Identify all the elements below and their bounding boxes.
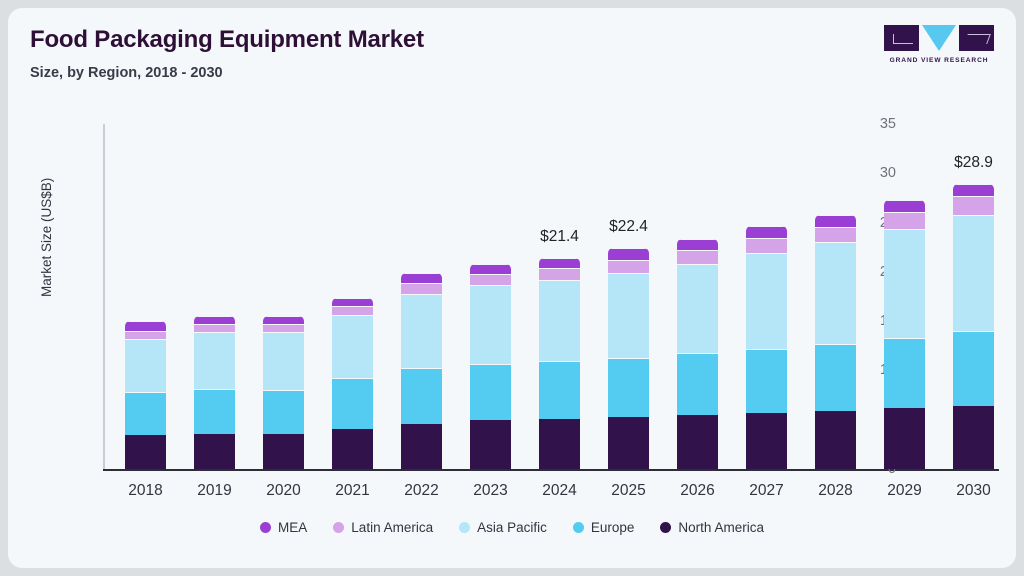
bar-group[interactable]: 2026 (677, 124, 718, 469)
bar-segment[interactable] (263, 324, 304, 332)
bar-segment[interactable] (194, 324, 235, 332)
bar-segment[interactable] (884, 408, 925, 469)
bar-stack[interactable] (677, 239, 718, 469)
bar-segment[interactable] (815, 215, 856, 227)
bar-segment[interactable] (884, 212, 925, 230)
legend-color-swatch-icon (573, 522, 584, 533)
bar-segment[interactable] (125, 331, 166, 339)
bar-stack[interactable] (884, 200, 925, 469)
bar-segment[interactable] (815, 411, 856, 469)
bar-segment[interactable] (194, 434, 235, 469)
bar-segment[interactable] (401, 294, 442, 369)
bar-segment[interactable] (539, 268, 580, 280)
y-axis-line (103, 124, 105, 469)
bar-segment[interactable] (953, 215, 994, 331)
x-tick-label: 2020 (266, 482, 300, 500)
bar-segment[interactable] (332, 306, 373, 315)
legend-item[interactable]: North America (660, 520, 764, 535)
bar-group[interactable]: 2021 (332, 124, 373, 469)
bar-segment[interactable] (539, 280, 580, 361)
bar-segment[interactable] (815, 242, 856, 344)
chart-header: Food Packaging Equipment Market Size, by… (30, 26, 424, 81)
bar-segment[interactable] (332, 315, 373, 378)
x-tick-label: 2030 (956, 482, 990, 500)
bar-segment[interactable] (677, 353, 718, 415)
bar-stack[interactable] (608, 248, 649, 469)
bar-segment[interactable] (677, 250, 718, 264)
bar-group[interactable]: 2020 (263, 124, 304, 469)
bar-segment[interactable] (953, 196, 994, 215)
bar-segment[interactable] (470, 364, 511, 420)
bar-stack[interactable] (815, 215, 856, 469)
bar-stack[interactable] (125, 321, 166, 469)
bar-group[interactable]: $22.42025 (608, 124, 649, 469)
bar-segment[interactable] (815, 227, 856, 243)
x-tick-label: 2021 (335, 482, 369, 500)
legend-label: Europe (591, 520, 635, 535)
legend-item[interactable]: Europe (573, 520, 635, 535)
bar-segment[interactable] (677, 415, 718, 469)
chart-legend: MEALatin AmericaAsia PacificEuropeNorth … (8, 520, 1016, 535)
bar-stack[interactable] (332, 298, 373, 469)
logo-wordmark: GRAND VIEW RESEARCH (884, 57, 994, 64)
logo-triangle-icon (922, 25, 956, 51)
chart-card: Food Packaging Equipment Market Size, by… (8, 8, 1016, 568)
bar-segment[interactable] (470, 274, 511, 285)
legend-label: Latin America (351, 520, 433, 535)
y-axis-title: Market Size (US$B) (39, 178, 54, 297)
bar-group[interactable]: 2023 (470, 124, 511, 469)
bar-segment[interactable] (332, 429, 373, 469)
bar-segment[interactable] (677, 264, 718, 353)
bar-stack[interactable] (263, 316, 304, 469)
bar-group[interactable]: $28.92030 (953, 124, 994, 469)
grand-view-research-logo: GRAND VIEW RESEARCH (884, 24, 994, 64)
bar-segment[interactable] (332, 378, 373, 428)
bar-segment[interactable] (470, 285, 511, 364)
bar-segment[interactable] (263, 332, 304, 390)
bar-stack[interactable] (401, 273, 442, 469)
x-tick-label: 2028 (818, 482, 852, 500)
bar-segment[interactable] (470, 420, 511, 469)
x-tick-label: 2019 (197, 482, 231, 500)
bar-group[interactable]: 2018 (125, 124, 166, 469)
logo-marks (884, 24, 994, 52)
bar-segment[interactable] (125, 392, 166, 434)
legend-item[interactable]: Latin America (333, 520, 433, 535)
bar-segment[interactable] (539, 361, 580, 419)
bar-segment[interactable] (608, 260, 649, 273)
bar-segment[interactable] (746, 253, 787, 349)
bar-group[interactable]: 2027 (746, 124, 787, 469)
bar-segment[interactable] (884, 229, 925, 337)
bar-segment[interactable] (125, 435, 166, 470)
bar-value-label: $22.4 (609, 218, 648, 236)
bar-stack[interactable] (539, 258, 580, 469)
x-tick-label: 2026 (680, 482, 714, 500)
bar-value-label: $28.9 (954, 154, 993, 172)
bar-segment[interactable] (263, 390, 304, 433)
legend-color-swatch-icon (260, 522, 271, 533)
bar-value-label: $21.4 (540, 228, 579, 246)
bar-segment[interactable] (470, 264, 511, 274)
chart-subtitle: Size, by Region, 2018 - 2030 (30, 65, 424, 81)
bar-segment[interactable] (125, 339, 166, 392)
x-tick-label: 2029 (887, 482, 921, 500)
bar-segment[interactable] (884, 200, 925, 212)
legend-color-swatch-icon (333, 522, 344, 533)
bar-segment[interactable] (125, 321, 166, 331)
x-tick-label: 2025 (611, 482, 645, 500)
logo-square-left-icon (884, 25, 919, 51)
bar-segment[interactable] (746, 413, 787, 469)
bar-segment[interactable] (194, 316, 235, 324)
bar-segment[interactable] (746, 238, 787, 253)
legend-label: Asia Pacific (477, 520, 547, 535)
bar-segment[interactable] (746, 349, 787, 413)
bar-segment[interactable] (608, 417, 649, 469)
bar-segment[interactable] (401, 283, 442, 294)
bar-stack[interactable] (194, 316, 235, 469)
bar-segment[interactable] (401, 424, 442, 469)
bar-segment[interactable] (953, 184, 994, 196)
bar-stack[interactable] (953, 184, 994, 469)
bar-group[interactable]: $21.42024 (539, 124, 580, 469)
bar-segment[interactable] (332, 298, 373, 307)
bar-segment[interactable] (677, 239, 718, 250)
bar-segment[interactable] (815, 344, 856, 411)
bar-group[interactable]: 2029 (884, 124, 925, 469)
legend-color-swatch-icon (660, 522, 671, 533)
legend-color-swatch-icon (459, 522, 470, 533)
bar-stack[interactable] (746, 226, 787, 469)
bar-segment[interactable] (953, 331, 994, 406)
bar-group[interactable]: 2019 (194, 124, 235, 469)
legend-label: North America (678, 520, 764, 535)
bar-group[interactable]: 2028 (815, 124, 856, 469)
bar-segment[interactable] (539, 258, 580, 268)
bar-segment[interactable] (194, 332, 235, 389)
legend-label: MEA (278, 520, 307, 535)
x-tick-label: 2024 (542, 482, 576, 500)
logo-square-right-icon (959, 25, 994, 51)
bar-segment[interactable] (884, 338, 925, 408)
plot-area: 05101520253035 201820192020202120222023$… (103, 124, 999, 469)
bar-segment[interactable] (263, 434, 304, 469)
x-tick-label: 2018 (128, 482, 162, 500)
page-title: Food Packaging Equipment Market (30, 26, 424, 54)
bar-segment[interactable] (401, 368, 442, 423)
bar-segment[interactable] (953, 406, 994, 469)
x-tick-label: 2023 (473, 482, 507, 500)
x-tick-label: 2022 (404, 482, 438, 500)
bar-segment[interactable] (608, 273, 649, 358)
bar-segment[interactable] (608, 248, 649, 260)
bar-group[interactable]: 2022 (401, 124, 442, 469)
x-tick-label: 2027 (749, 482, 783, 500)
bar-segment[interactable] (194, 389, 235, 433)
legend-item[interactable]: MEA (260, 520, 307, 535)
bar-segment[interactable] (401, 273, 442, 283)
bar-stack[interactable] (470, 264, 511, 469)
bar-segment[interactable] (608, 358, 649, 417)
bar-segment[interactable] (539, 419, 580, 469)
bar-segment[interactable] (263, 316, 304, 324)
bar-segment[interactable] (746, 226, 787, 239)
legend-item[interactable]: Asia Pacific (459, 520, 547, 535)
